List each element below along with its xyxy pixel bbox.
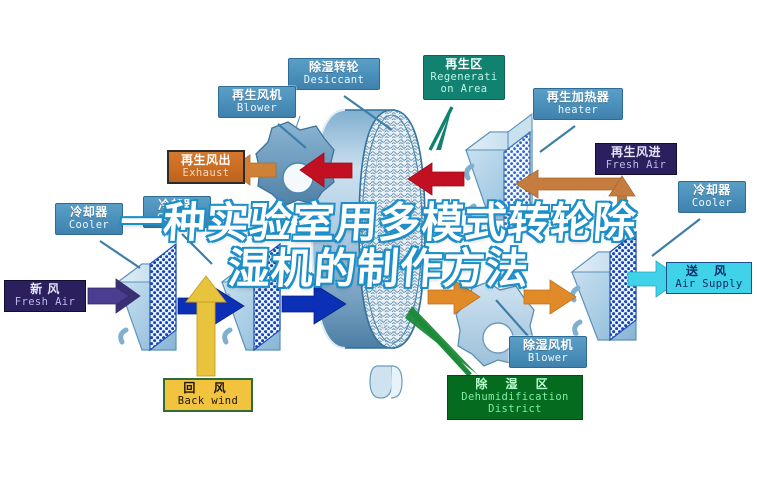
label-regeneration-heater[interactable]: 再生加热器 heater [533, 88, 623, 120]
label-air-supply[interactable]: 送 风 Air Supply [666, 262, 752, 294]
label-regeneration-area[interactable]: 再生区 Regenerati on Area [423, 55, 505, 100]
regeneration-heater-block [466, 0, 535, 238]
label-regeneration-blower-en: Blower [223, 103, 291, 114]
label-cooler-right[interactable]: 冷却器 Cooler [678, 181, 746, 213]
label-exhaust-cn: 再生风出 [173, 154, 239, 167]
label-desiccant-wheel-en: Desiccant [293, 75, 375, 86]
label-regeneration-heater-cn: 再生加热器 [538, 91, 618, 104]
label-fresh-air-in-cn: 新 风 [9, 283, 81, 296]
label-desiccant-wheel-cn: 除湿转轮 [293, 61, 375, 74]
label-cooler-right-en: Cooler [683, 198, 741, 209]
label-exhaust-en: Exhaust [173, 168, 239, 179]
label-back-wind[interactable]: 回 风 Back wind [163, 378, 253, 412]
cooler-block-2 [222, 244, 280, 350]
label-cooler-left-cn: 冷却器 [60, 206, 118, 219]
svg-text:xi: xi [378, 319, 389, 334]
label-cooler-left-en: Cooler [60, 220, 118, 231]
label-regeneration-air-in[interactable]: 再生风进 Fresh Air [595, 143, 677, 175]
label-dehumidification-district[interactable]: 除 湿 区 Dehumidification District [447, 375, 583, 420]
label-air-supply-en: Air Supply [671, 279, 747, 290]
label-back-wind-cn: 回 风 [169, 382, 247, 395]
label-fresh-air-in-en: Fresh Air [9, 297, 81, 308]
label-regeneration-area-en2: on Area [428, 84, 500, 95]
label-regeneration-blower[interactable]: 再生风机 Blower [218, 86, 296, 118]
label-back-wind-en: Back wind [169, 396, 247, 407]
diagram-canvas: xi [0, 0, 757, 488]
label-regeneration-blower-cn: 再生风机 [223, 89, 291, 102]
label-cooler-right-cn: 冷却器 [683, 184, 741, 197]
label-exhaust[interactable]: 再生风出 Exhaust [167, 150, 245, 184]
label-dehumidification-district-en1: Dehumidification [452, 392, 578, 403]
cooler-block-3 [572, 232, 636, 340]
label-cooler-mid-cn: 冷却器 [148, 199, 206, 212]
label-dehumidification-district-en2: District [452, 404, 578, 415]
label-air-supply-cn: 送 风 [671, 265, 747, 278]
label-cooler-left[interactable]: 冷却器 Cooler [55, 203, 123, 235]
label-regeneration-air-in-en: Fresh Air [600, 160, 672, 171]
label-dehumidification-blower[interactable]: 除湿风机 Blower [509, 336, 587, 368]
label-regeneration-heater-en: heater [538, 105, 618, 116]
label-desiccant-wheel[interactable]: 除湿转轮 Desiccant [288, 58, 380, 90]
regeneration-leader-tip [436, 107, 452, 150]
label-regeneration-air-in-cn: 再生风进 [600, 146, 672, 159]
label-fresh-air-in[interactable]: 新 风 Fresh Air [4, 280, 86, 312]
label-dehumidification-blower-cn: 除湿风机 [514, 339, 582, 352]
label-dehumidification-blower-en: Blower [514, 353, 582, 364]
label-regeneration-area-cn: 再生区 [428, 58, 500, 71]
label-dehumidification-district-cn: 除 湿 区 [452, 378, 578, 391]
label-cooler-mid-en: Cooler [148, 213, 206, 224]
label-cooler-mid[interactable]: 冷却器 Cooler [143, 196, 211, 228]
label-regeneration-area-en1: Regenerati [428, 72, 500, 83]
